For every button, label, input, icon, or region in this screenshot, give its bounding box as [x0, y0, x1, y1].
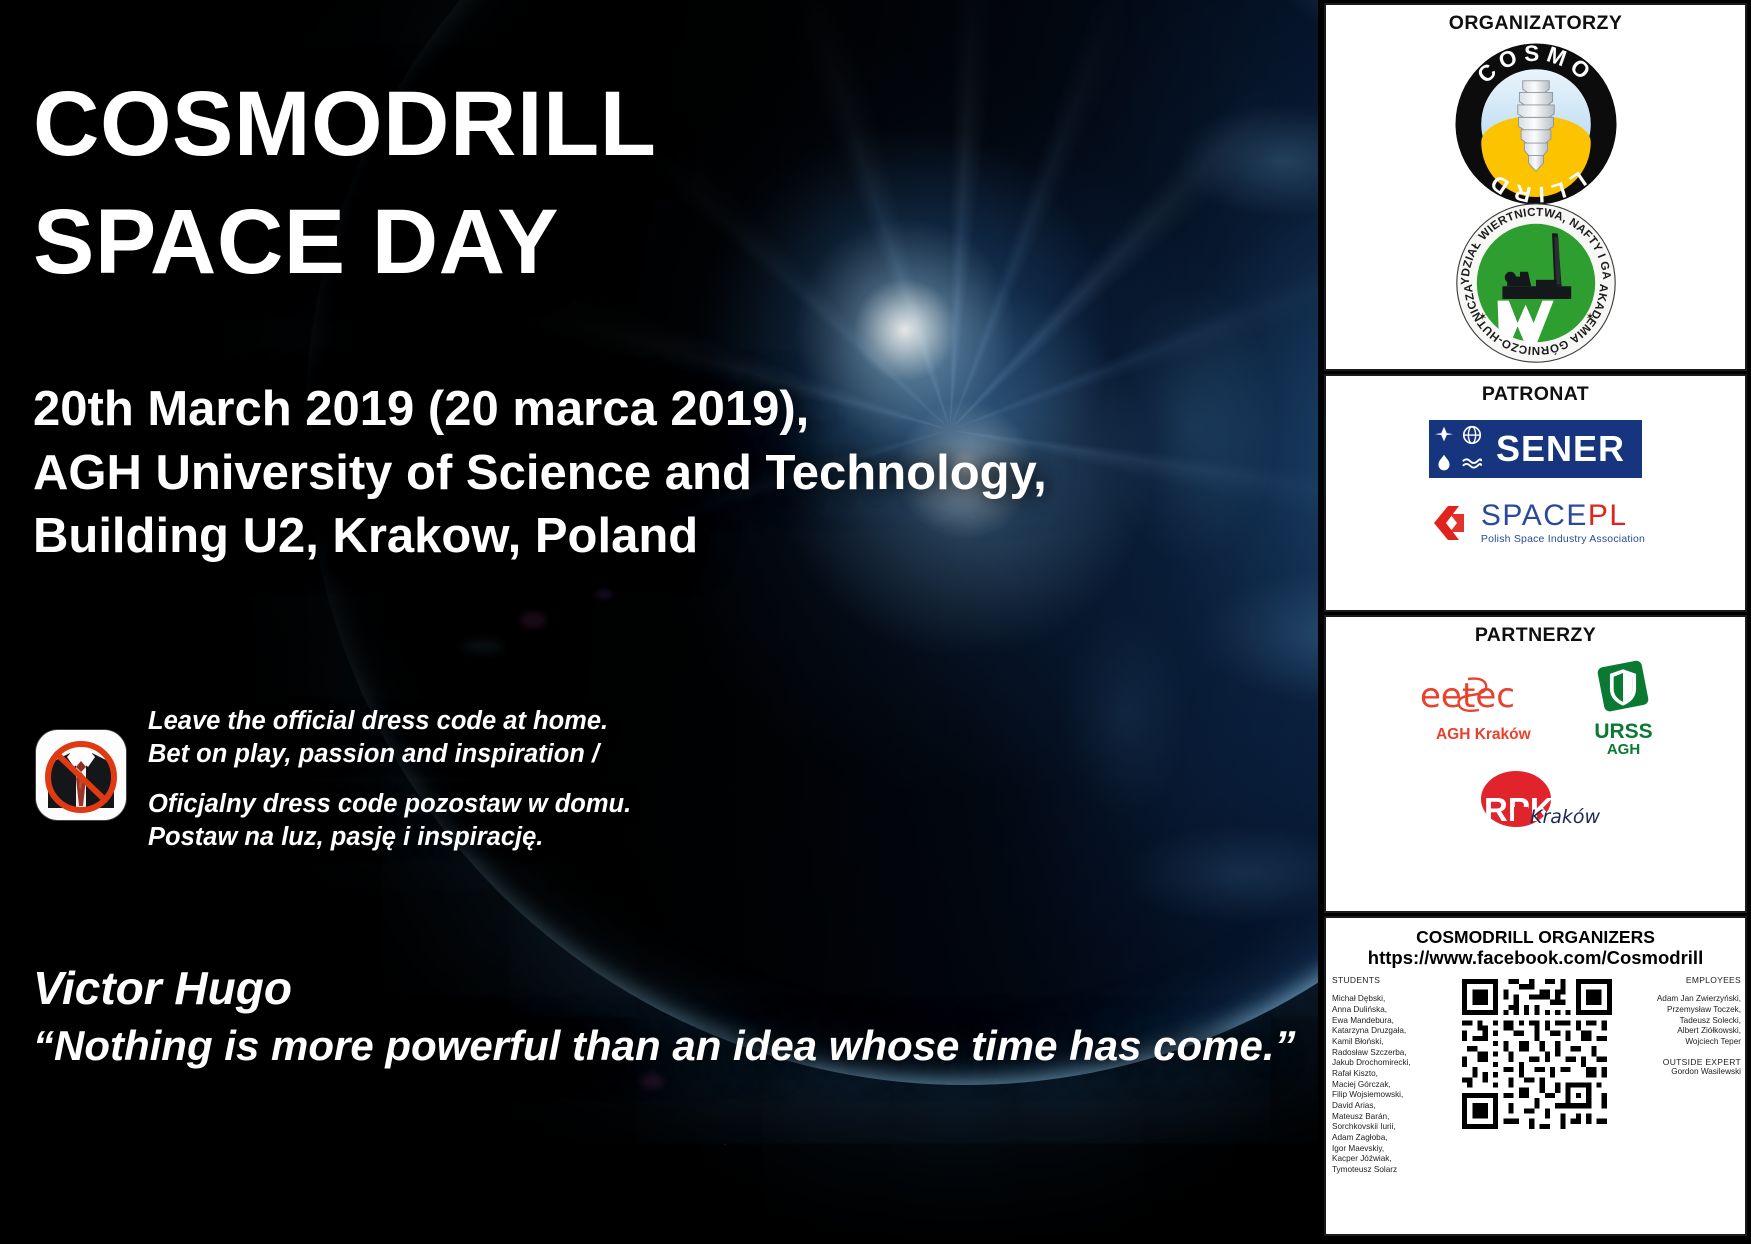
- footer-body: STUDENTS Michał Dębski, Anna Dulińska, E…: [1326, 968, 1745, 1234]
- employees-list: Adam Jan Zwierzyński, Przemysław Toczek,…: [1637, 994, 1741, 1047]
- quote-author: Victor Hugo: [33, 960, 1296, 1016]
- space-pl-word-pl: PL: [1588, 499, 1628, 532]
- list-item: Albert Ziółkowski,: [1637, 1026, 1741, 1037]
- footer-title: COSMODRILL ORGANIZERS: [1326, 928, 1745, 948]
- dress-code-spacer: [148, 771, 631, 788]
- urss-line-2: AGH: [1594, 742, 1652, 757]
- poster-subtitle: 20th March 2019 (20 marca 2019), AGH Uni…: [33, 378, 1283, 569]
- list-item: Mateusz Barán,: [1332, 1112, 1436, 1123]
- space-pl-word-space: SPACE: [1481, 499, 1588, 532]
- sener-emblem: [1430, 421, 1486, 477]
- poster: COSMODRILL SPACE DAY 20th March 2019 (20…: [0, 0, 1751, 1244]
- dress-code-pl-line-2: Postaw na luz, pasję i inspirację.: [148, 821, 631, 854]
- partners-panel: PARTNERZY ee tec AGH Kraków: [1324, 615, 1747, 913]
- list-item: Sorchkovskii Iurii,: [1332, 1122, 1436, 1133]
- urss-shield-icon: [1595, 659, 1651, 715]
- list-item: Wojciech Teper: [1637, 1037, 1741, 1048]
- list-item: Radosław Szczerba,: [1332, 1048, 1436, 1059]
- rpk-krakow-logo: RPK Kraków: [1466, 769, 1606, 835]
- list-item: Filip Wojsiemowski,: [1332, 1090, 1436, 1101]
- list-item: Jakub Drochomirecki,: [1332, 1058, 1436, 1069]
- dress-code-pl-line-1: Oficjalny dress code pozostaw w domu.: [148, 788, 631, 821]
- space-pl-logo: SPACEPL Polish Space Industry Associatio…: [1426, 500, 1645, 546]
- students-list: Michał Dębski, Anna Dulińska, Ewa Mandeb…: [1332, 994, 1436, 1175]
- list-item: Michał Dębski,: [1332, 994, 1436, 1005]
- employees-heading: EMPLOYEES: [1637, 975, 1741, 985]
- patronage-heading: PATRONAT: [1482, 383, 1589, 406]
- list-item: Adam Zagłoba,: [1332, 1133, 1436, 1144]
- sener-energy-icon: [1431, 450, 1458, 477]
- list-item: Przemysław Toczek,: [1637, 1005, 1741, 1016]
- list-item: Rafał Kiszto,: [1332, 1069, 1436, 1080]
- svg-text:ee: ee: [1420, 676, 1462, 716]
- footer-panel: COSMODRILL ORGANIZERS https://www.facebo…: [1324, 916, 1747, 1236]
- list-item: Adam Jan Zwierzyński,: [1637, 994, 1741, 1005]
- eestec-logo: ee tec AGH Kraków: [1418, 673, 1548, 744]
- students-heading: STUDENTS: [1332, 975, 1436, 985]
- list-item: Tymoteusz Solarz: [1332, 1165, 1436, 1176]
- list-item: Gordon Wasilewski: [1637, 1067, 1741, 1078]
- list-item: Tadeusz Solecki,: [1637, 1016, 1741, 1027]
- space-pl-wordmark: SPACEPL Polish Space Industry Associatio…: [1481, 501, 1645, 545]
- list-item: Anna Dulińska,: [1332, 1005, 1436, 1016]
- list-item: David Arias,: [1332, 1101, 1436, 1112]
- subtitle-line-3: Building U2, Krakow, Poland: [33, 505, 1283, 569]
- sener-wordmark: SENER: [1486, 421, 1641, 477]
- partners-heading: PARTNERZY: [1475, 624, 1596, 647]
- space-pl-main: SPACEPL: [1481, 501, 1645, 531]
- facebook-qr-code[interactable]: [1462, 979, 1612, 1129]
- space-pl-tagline: Polish Space Industry Association: [1481, 534, 1645, 545]
- sener-marine-icon: [1458, 450, 1485, 477]
- organizers-heading: ORGANIZATORZY: [1449, 12, 1622, 35]
- outside-expert-heading: OUTSIDE EXPERT: [1637, 1057, 1741, 1067]
- title-line-2: SPACE DAY: [33, 184, 1263, 302]
- quote-text: “Nothing is more powerful than an idea w…: [33, 1020, 1296, 1073]
- dress-code-text: Leave the official dress code at home. B…: [148, 705, 631, 855]
- sener-globe-icon: [1458, 422, 1485, 449]
- quote-block: Victor Hugo “Nothing is more powerful th…: [33, 960, 1296, 1073]
- urss-agh-logo: URSS AGH: [1594, 659, 1652, 757]
- no-suit-icon: [36, 730, 126, 820]
- dress-code-en-line-1: Leave the official dress code at home.: [148, 705, 631, 738]
- eestec-sub: AGH Kraków: [1418, 726, 1548, 744]
- organizers-panel: ORGANIZATORZY: [1324, 3, 1747, 371]
- list-item: Kacper Jóźwiak,: [1332, 1154, 1436, 1165]
- list-item: Katarzyna Druzgała,: [1332, 1026, 1436, 1037]
- outside-expert-list: Gordon Wasilewski: [1637, 1067, 1741, 1078]
- rpk-krakow-mark: RPK Kraków: [1466, 769, 1606, 835]
- list-item: Maciej Górczak,: [1332, 1080, 1436, 1091]
- urss-line-1: URSS: [1594, 721, 1652, 742]
- space-artwork: COSMODRILL SPACE DAY 20th March 2019 (20…: [0, 0, 1318, 1244]
- svg-text:✶: ✶: [1478, 312, 1487, 323]
- sener-aero-icon: [1431, 422, 1458, 449]
- poster-title: COSMODRILL SPACE DAY: [33, 66, 1263, 302]
- eestec-wordmark: ee tec: [1418, 673, 1548, 719]
- list-item: Kamil Błoński,: [1332, 1037, 1436, 1048]
- agh-drilling-faculty-logo: WYDZIAŁ WIERTNICTWA, NAFTY I GAZU AKADEM…: [1456, 203, 1616, 363]
- students-column: STUDENTS Michał Dębski, Anna Dulińska, E…: [1332, 975, 1436, 1175]
- sidebar: ORGANIZATORZY: [1318, 0, 1751, 1244]
- dress-code-en-line-2: Bet on play, passion and inspiration /: [148, 738, 631, 771]
- cosmodrill-logo: COSMO LLIRD: [1453, 41, 1619, 207]
- dress-code-block: Leave the official dress code at home. B…: [36, 705, 631, 855]
- list-item: Igor Maevskiy,: [1332, 1144, 1436, 1155]
- footer-url[interactable]: https://www.facebook.com/Cosmodrill: [1326, 948, 1745, 969]
- subtitle-line-1: 20th March 2019 (20 marca 2019),: [33, 378, 1283, 442]
- sener-logo: SENER: [1429, 420, 1642, 478]
- svg-text:✶: ✶: [1585, 312, 1594, 323]
- svg-text:Kraków: Kraków: [1530, 806, 1601, 828]
- list-item: Ewa Mandebura,: [1332, 1016, 1436, 1027]
- patronage-panel: PATRONAT SENER: [1324, 374, 1747, 612]
- space-pl-mark-icon: [1426, 500, 1472, 546]
- partners-row-1: ee tec AGH Kraków URSS AGH: [1326, 659, 1745, 757]
- subtitle-line-2: AGH University of Science and Technology…: [33, 442, 1283, 506]
- employees-column: EMPLOYEES Adam Jan Zwierzyński, Przemysł…: [1637, 975, 1741, 1077]
- title-line-1: COSMODRILL: [33, 66, 1263, 184]
